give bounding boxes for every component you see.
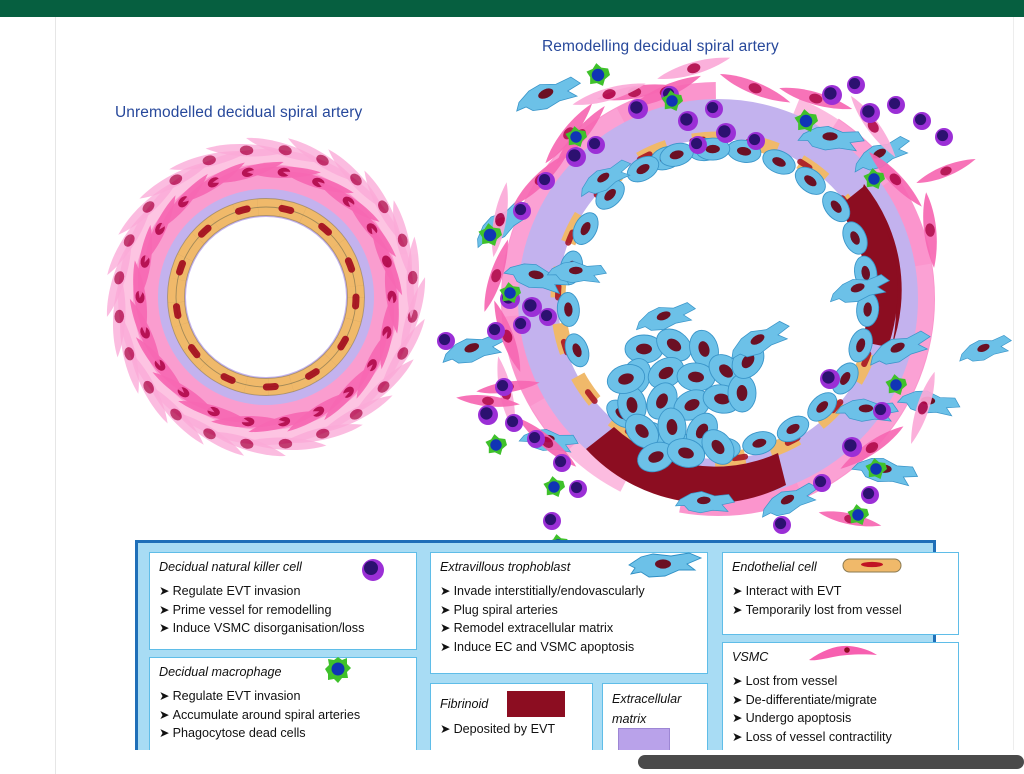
macrophage-cell bbox=[543, 476, 565, 497]
diagram-unremodelled-artery bbox=[96, 127, 436, 467]
bullet-arrow-icon: ➤ bbox=[159, 619, 170, 638]
dnk-cell bbox=[773, 516, 791, 534]
macrophage-cell bbox=[586, 63, 610, 86]
dnk-cell bbox=[539, 308, 557, 326]
legend-box-vsmc: VSMC ➤Lost from vessel ➤De-differentiate… bbox=[722, 642, 959, 751]
legend-title-vsmc: VSMC bbox=[732, 650, 768, 664]
title-unremodelled-artery: Unremodelled decidual spiral artery bbox=[115, 104, 362, 122]
dnk-cell bbox=[537, 172, 555, 190]
dnk-cell bbox=[813, 474, 831, 492]
dnk-cell bbox=[678, 111, 698, 131]
legend-title-fibrinoid: Fibrinoid bbox=[440, 697, 488, 711]
bullet-arrow-icon: ➤ bbox=[159, 582, 170, 601]
dnk-cell bbox=[495, 378, 513, 396]
vsmc-cell bbox=[818, 507, 883, 531]
dnk-cell bbox=[487, 322, 505, 340]
dnk-cell bbox=[587, 136, 605, 154]
bullet-arrow-icon: ➤ bbox=[440, 601, 451, 620]
bullet-arrow-icon: ➤ bbox=[159, 724, 170, 743]
endothelial-cell-icon bbox=[841, 555, 903, 577]
legend-title-ecm-line1: Extracellular bbox=[612, 692, 681, 706]
dnk-cell bbox=[505, 414, 523, 432]
dnk-cell bbox=[543, 512, 561, 530]
legend-item: ➤Regulate EVT invasion bbox=[159, 687, 416, 706]
vsmc-cell bbox=[914, 154, 977, 188]
legend-title-evt: Extravillous trophoblast bbox=[440, 560, 570, 574]
diagram-remodelling-artery bbox=[426, 49, 1016, 559]
evt-cell-icon bbox=[627, 552, 703, 582]
dnk-cell bbox=[522, 297, 542, 317]
app-top-bar bbox=[0, 0, 1024, 17]
dnk-cell bbox=[873, 402, 891, 420]
dnk-cell bbox=[566, 147, 586, 167]
dnk-cell bbox=[820, 369, 840, 389]
fibrinoid-swatch bbox=[507, 691, 565, 717]
legend-box-ecm: Extracellular matrix bbox=[602, 683, 708, 751]
legend-item: ➤Lost from vessel bbox=[732, 672, 958, 691]
bullet-arrow-icon: ➤ bbox=[732, 709, 743, 728]
dnk-cell bbox=[437, 332, 455, 350]
legend-item: ➤Loss of vessel contractility bbox=[732, 728, 958, 747]
lumen-unremodelled bbox=[186, 217, 346, 377]
legend-item: ➤Induce EC and VSMC apoptosis bbox=[440, 638, 707, 657]
bullet-arrow-icon: ➤ bbox=[732, 728, 743, 747]
bullet-arrow-icon: ➤ bbox=[732, 691, 743, 710]
legend-box-endothelial: Endothelial cell ➤Interact with EVT ➤Tem… bbox=[722, 552, 959, 635]
dnk-cell bbox=[847, 76, 865, 94]
bullet-arrow-icon: ➤ bbox=[159, 706, 170, 725]
legend-box-fibrinoid: Fibrinoid ➤Deposited by EVT bbox=[430, 683, 593, 751]
legend-title-macrophage: Decidual macrophage bbox=[159, 665, 282, 679]
dnk-cell-icon bbox=[358, 555, 388, 585]
legend-item: ➤Temporarily lost from vessel bbox=[732, 601, 958, 620]
bullet-arrow-icon: ➤ bbox=[732, 582, 743, 601]
figure-canvas: Remodelling decidual spiral artery Unrem… bbox=[56, 17, 1013, 750]
legend-title-ecm-line2: matrix bbox=[612, 712, 646, 726]
dnk-cell bbox=[822, 85, 842, 105]
legend-item: ➤Accumulate around spiral arteries bbox=[159, 706, 416, 725]
dnk-cell bbox=[913, 112, 931, 130]
dnk-cell bbox=[527, 430, 545, 448]
legend-title-endothelial: Endothelial cell bbox=[732, 560, 817, 574]
evt-plug-cell bbox=[728, 374, 757, 412]
legend-item: ➤Invade interstitially/endovascularly bbox=[440, 582, 707, 601]
bullet-arrow-icon: ➤ bbox=[440, 582, 451, 601]
legend-item: ➤Undergo apoptosis bbox=[732, 709, 958, 728]
bullet-arrow-icon: ➤ bbox=[732, 601, 743, 620]
legend-item: ➤Interact with EVT bbox=[732, 582, 958, 601]
dnk-cell bbox=[716, 123, 736, 143]
dnk-cell bbox=[842, 437, 862, 457]
evt-cell bbox=[512, 75, 584, 115]
dnk-cell bbox=[553, 454, 571, 472]
dnk-cell bbox=[705, 100, 723, 118]
legend-item: ➤De-differentiate/migrate bbox=[732, 691, 958, 710]
dnk-cell bbox=[628, 99, 648, 119]
vsmc-cell-icon bbox=[807, 641, 879, 667]
legend-item: ➤Phagocytose dead cells bbox=[159, 724, 416, 743]
dnk-cell bbox=[513, 316, 531, 334]
bullet-arrow-icon: ➤ bbox=[159, 601, 170, 620]
dnk-cell bbox=[887, 96, 905, 114]
bullet-arrow-icon: ➤ bbox=[732, 672, 743, 691]
legend-item: ➤Induce VSMC disorganisation/loss bbox=[159, 619, 416, 638]
horizontal-scrollbar-thumb[interactable] bbox=[638, 755, 1024, 769]
legend-title-dnk: Decidual natural killer cell bbox=[159, 560, 302, 574]
legend-item: ➤Prime vessel for remodelling bbox=[159, 601, 416, 620]
dnk-cell bbox=[569, 480, 587, 498]
legend-box-dnk: Decidual natural killer cell ➤Regulate E… bbox=[149, 552, 417, 650]
dnk-cell bbox=[747, 132, 765, 150]
bullet-arrow-icon: ➤ bbox=[440, 638, 451, 657]
legend-item: ➤Plug spiral arteries bbox=[440, 601, 707, 620]
dnk-cell bbox=[689, 136, 707, 154]
macrophage-cell bbox=[485, 434, 507, 455]
page-canvas: Remodelling decidual spiral artery Unrem… bbox=[0, 0, 1024, 774]
macrophage-icon bbox=[322, 654, 354, 686]
dnk-cell bbox=[478, 405, 498, 425]
legend-box-evt: Extravillous trophoblast ➤Invade interst… bbox=[430, 552, 708, 674]
evt-cell bbox=[957, 334, 1014, 364]
ecm-swatch bbox=[618, 728, 670, 752]
dnk-cell bbox=[935, 128, 953, 146]
legend-item: ➤Remodel extracellular matrix bbox=[440, 619, 707, 638]
bullet-arrow-icon: ➤ bbox=[159, 687, 170, 706]
legend-item: ➤Deposited by EVT bbox=[440, 720, 592, 739]
bullet-arrow-icon: ➤ bbox=[440, 619, 451, 638]
dnk-cell bbox=[860, 103, 880, 123]
horizontal-scrollbar-track[interactable] bbox=[56, 750, 1024, 774]
legend-box-macrophage: Decidual macrophage ➤Regulate EVT invasi… bbox=[149, 657, 417, 751]
bullet-arrow-icon: ➤ bbox=[440, 720, 451, 739]
dnk-cell bbox=[861, 486, 879, 504]
dnk-cell bbox=[513, 202, 531, 220]
